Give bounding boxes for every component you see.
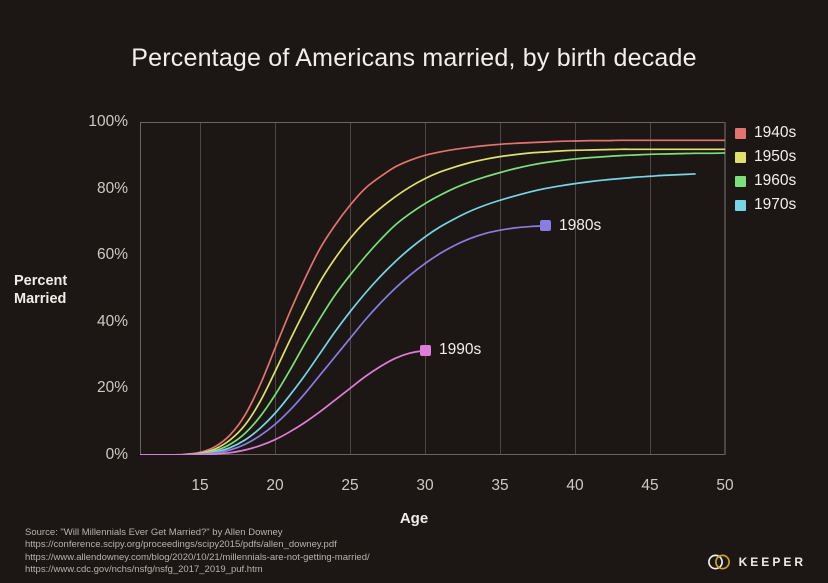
y-tick-label: 100% bbox=[88, 113, 128, 131]
inline-label-1980s[interactable]: 1980s bbox=[540, 217, 601, 235]
source-url[interactable]: https://www.cdc.gov/nchs/nsfg/nsfg_2017_… bbox=[25, 564, 370, 576]
source-url[interactable]: https://conference.scipy.org/proceedings… bbox=[25, 539, 370, 551]
x-tick-label: 35 bbox=[491, 477, 508, 495]
chart-legend: 1940s1950s1960s1970s bbox=[735, 122, 827, 218]
x-tick-label: 45 bbox=[641, 477, 658, 495]
series-end-marker bbox=[420, 345, 431, 356]
y-tick-label: 40% bbox=[97, 313, 128, 331]
inline-label-text: 1980s bbox=[559, 217, 601, 235]
x-tick-label: 20 bbox=[266, 477, 283, 495]
x-tick-label: 25 bbox=[341, 477, 358, 495]
legend-swatch-icon bbox=[735, 176, 746, 187]
legend-item-1970s[interactable]: 1970s bbox=[735, 194, 827, 216]
legend-item-label: 1960s bbox=[754, 172, 796, 190]
source-url[interactable]: https://www.allendowney.com/blog/2020/10… bbox=[25, 552, 370, 564]
y-tick-label: 0% bbox=[106, 446, 128, 464]
y-tick-label: 80% bbox=[97, 180, 128, 198]
legend-item-1950s[interactable]: 1950s bbox=[735, 146, 827, 168]
legend-item-1940s[interactable]: 1940s bbox=[735, 122, 827, 144]
legend-swatch-icon bbox=[735, 200, 746, 211]
interlocking-rings-icon bbox=[706, 553, 732, 571]
y-tick-label: 60% bbox=[97, 246, 128, 264]
series-line-1970s bbox=[140, 174, 695, 455]
legend-swatch-icon bbox=[735, 152, 746, 163]
series-line-1940s bbox=[140, 140, 725, 455]
series-line-1990s bbox=[140, 350, 425, 455]
series-lines bbox=[140, 122, 725, 455]
x-axis-label: Age bbox=[0, 510, 828, 527]
series-end-marker bbox=[540, 220, 551, 231]
x-tick-label: 40 bbox=[566, 477, 583, 495]
y-axis-ticks: 0%20%40%60%80%100% bbox=[60, 122, 128, 455]
gridline bbox=[725, 122, 726, 455]
x-axis-ticks: 1520253035404550 bbox=[140, 477, 725, 497]
x-tick-label: 30 bbox=[416, 477, 433, 495]
keeper-logo: KEEPER bbox=[706, 553, 806, 571]
legend-item-label: 1940s bbox=[754, 124, 796, 142]
page-title: Percentage of Americans married, by birt… bbox=[0, 44, 828, 73]
legend-swatch-icon bbox=[735, 128, 746, 139]
x-tick-label: 15 bbox=[191, 477, 208, 495]
x-tick-label: 50 bbox=[716, 477, 733, 495]
plot-area bbox=[140, 122, 725, 455]
legend-item-1960s[interactable]: 1960s bbox=[735, 170, 827, 192]
brand-name: KEEPER bbox=[739, 555, 806, 569]
series-line-1980s bbox=[140, 226, 545, 455]
source-citation: Source: "Will Millennials Ever Get Marri… bbox=[25, 527, 370, 577]
legend-item-label: 1950s bbox=[754, 148, 796, 166]
series-line-1950s bbox=[140, 149, 725, 455]
y-axis-label-line2: Married bbox=[14, 291, 66, 307]
inline-label-1990s[interactable]: 1990s bbox=[420, 341, 481, 359]
series-line-1960s bbox=[140, 153, 725, 455]
legend-item-label: 1970s bbox=[754, 196, 796, 214]
source-line: Source: "Will Millennials Ever Get Marri… bbox=[25, 527, 370, 539]
chart-canvas: Percentage of Americans married, by birt… bbox=[0, 0, 828, 583]
y-tick-label: 20% bbox=[97, 379, 128, 397]
inline-label-text: 1990s bbox=[439, 341, 481, 359]
